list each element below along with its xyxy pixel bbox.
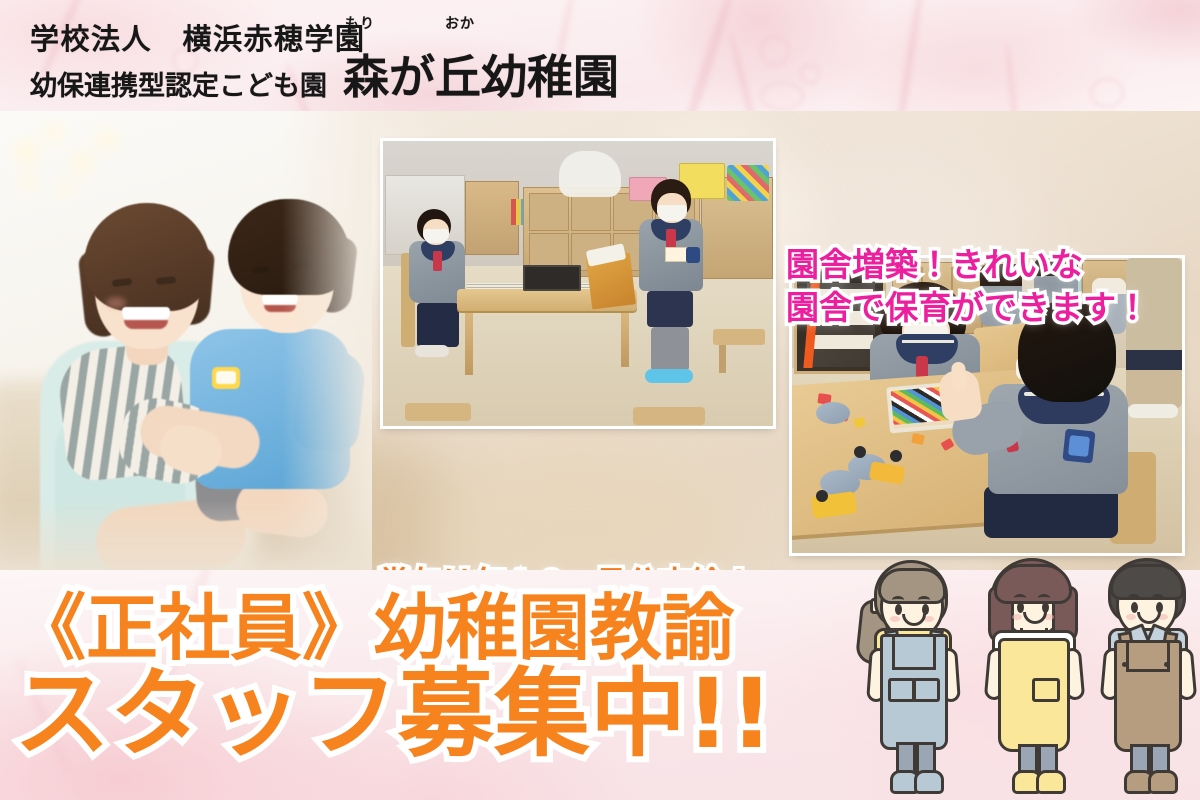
headline-line-1: 《正社員》幼稚園教諭 (14, 592, 894, 664)
orange-callout-text: 賞与は年4.0ヶ月分支給！ 年間休日数120日です♪ (378, 563, 808, 570)
school-title-line-1: 学校法人 横浜赤穂学園 (30, 8, 619, 54)
photo-edge-fade (0, 500, 372, 570)
background-adult-shoe (1128, 404, 1178, 418)
standing-child-emblem (686, 247, 700, 263)
teacher-holding-child-photo (0, 111, 372, 570)
seated-child-necktie (433, 251, 442, 271)
seated-child-legs (417, 303, 459, 347)
corporation-name: 学校法人 横浜赤穂学園 (30, 25, 366, 54)
colorful-toys (727, 165, 769, 201)
recruitment-banner: 学校法人 横浜赤穂学園 幼保連携型認定こども園 もり おか 森が丘幼稚園 (0, 0, 1200, 800)
apron-bib (1126, 640, 1170, 672)
table-leg (621, 311, 629, 367)
cheek (1012, 614, 1022, 620)
marble-vein (728, 31, 763, 111)
wooden-stool (405, 403, 471, 421)
teacher-hair (84, 203, 210, 311)
bokeh-light (70, 151, 94, 175)
eye (895, 604, 902, 615)
seated-child-shoe (415, 345, 449, 357)
orange-callout-line-1: 賞与は年4.0ヶ月分支給！ (378, 563, 808, 570)
main-headline: 《正社員》幼稚園教諭 スタッフ募集中!! (14, 592, 894, 762)
pink-callout-line-1: 園舎増築！きれいな (786, 244, 1196, 287)
standing-child-legs (651, 327, 689, 371)
bokeh-light (96, 129, 118, 151)
teacher-character-illustrations (858, 556, 1200, 800)
bangs (878, 568, 946, 604)
standing-child-shorts (647, 291, 693, 327)
toy-wheel (816, 490, 828, 502)
girl-pointing-finger (951, 362, 967, 393)
eyebrow (1128, 594, 1140, 602)
marble-vein (680, 0, 736, 111)
marble-bubble (800, 64, 820, 84)
block-piece (911, 433, 925, 445)
apron-bib (892, 634, 936, 670)
headline-line-2: スタッフ募集中!! (14, 666, 894, 762)
pink-callout-text: 園舎増築！きれいな 園舎で保育ができます！ (786, 244, 1196, 330)
eyebrow (1038, 594, 1050, 602)
cabinet-shelf (809, 335, 873, 349)
pink-callout-line-2: 園舎で保育ができます！ (786, 287, 1196, 330)
photo-collage-area: 園舎増築！きれいな 園舎で保育ができます！ 賞与は年4.0ヶ月分支給！ 年間休日… (0, 111, 1200, 570)
bangs (994, 564, 1072, 604)
bangs (1110, 564, 1184, 600)
marble-vein (1004, 40, 1020, 111)
furigana-oka: おか (445, 17, 475, 31)
toy-wheel (854, 446, 866, 458)
wooden-stool (633, 407, 705, 425)
apron-pocket (1032, 678, 1060, 702)
marble-bubble (760, 36, 790, 66)
furigana-mori: もり (345, 17, 375, 31)
cubby-cell (529, 193, 569, 231)
cheek (890, 616, 900, 622)
shoe (1148, 770, 1178, 794)
bokeh-light (44, 123, 64, 143)
marble-vein (892, 0, 926, 111)
apron-button (1122, 662, 1127, 667)
school-title-line-2: 幼保連携型認定こども園 もり おか 森が丘幼稚園 (30, 52, 619, 100)
bokeh-light (20, 173, 38, 191)
toy-wheel (890, 450, 902, 462)
character-bob-teacher (976, 556, 1088, 800)
seated-child-mask (423, 229, 449, 243)
white-bag (559, 151, 621, 197)
cubby-cell (571, 193, 611, 231)
eyebrow (1152, 594, 1164, 602)
header-band: 学校法人 横浜赤穂学園 幼保連携型認定こども園 もり おか 森が丘幼稚園 (0, 0, 1200, 111)
bokeh-light (58, 181, 74, 197)
kindergarten-name-wrap: もり おか 森が丘幼稚園 (343, 55, 619, 100)
bokeh-light (14, 139, 40, 165)
child-name-badge-inner (216, 371, 236, 384)
character-short-hair-teacher (1094, 556, 1200, 800)
wooden-stool (713, 329, 765, 345)
facility-type: 幼保連携型認定こども園 (30, 73, 327, 100)
eyebrow (1014, 594, 1026, 602)
shoe (914, 770, 944, 794)
boy-collar-stripe (902, 340, 954, 343)
stool-leg (719, 345, 726, 373)
marble-bubble (760, 82, 804, 110)
marble-bubble (1090, 78, 1124, 108)
character-ponytail-teacher (858, 556, 966, 800)
toy-disc (816, 402, 850, 424)
standing-child-name-card (665, 247, 687, 262)
standing-child-mask (657, 205, 687, 221)
standing-child-shoe (645, 369, 693, 383)
eyebrow (892, 596, 904, 604)
school-title: 学校法人 横浜赤穂学園 幼保連携型認定こども園 もり おか 森が丘幼稚園 (30, 8, 619, 100)
teacher-mouth-inner (124, 320, 168, 329)
apron-button (1164, 662, 1169, 667)
girl-emblem-inner (1068, 435, 1090, 457)
apron-pocket (912, 678, 940, 702)
shoe (1036, 770, 1066, 794)
cheek (1126, 614, 1136, 620)
black-basket (523, 265, 581, 291)
table-leg (465, 311, 473, 375)
eyebrow (918, 596, 930, 604)
classroom-activity-photo (383, 141, 773, 426)
kindergarten-name: 森が丘幼稚園 (343, 50, 619, 104)
